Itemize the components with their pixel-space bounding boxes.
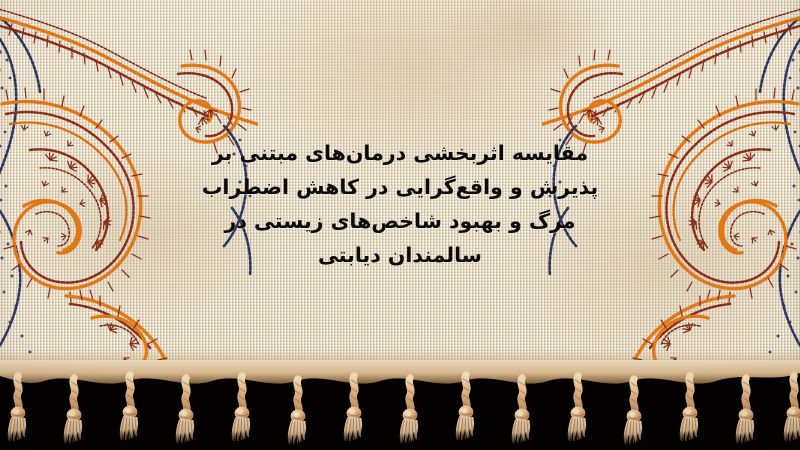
title-line-2: پذیرش و واقع‌گرایی در کاهش اضطراب [196, 170, 604, 204]
title-line-1: مقایسه اثربخشی درمان‌های مبتنی بر [196, 136, 604, 170]
tassel-row [8, 375, 800, 445]
slide-title: مقایسه اثربخشی درمان‌های مبتنی بر پذیرش … [196, 136, 604, 272]
title-slide: .sO { fill:none; stroke:#e07818; stroke-… [0, 0, 800, 450]
title-line-4: سالمندان دیابتی [196, 238, 604, 272]
title-line-3: مرگ و بهبود شاخص‌های زیستی در [196, 204, 604, 238]
fringe-selvedge [0, 360, 800, 384]
tassel-fringe [0, 360, 800, 450]
